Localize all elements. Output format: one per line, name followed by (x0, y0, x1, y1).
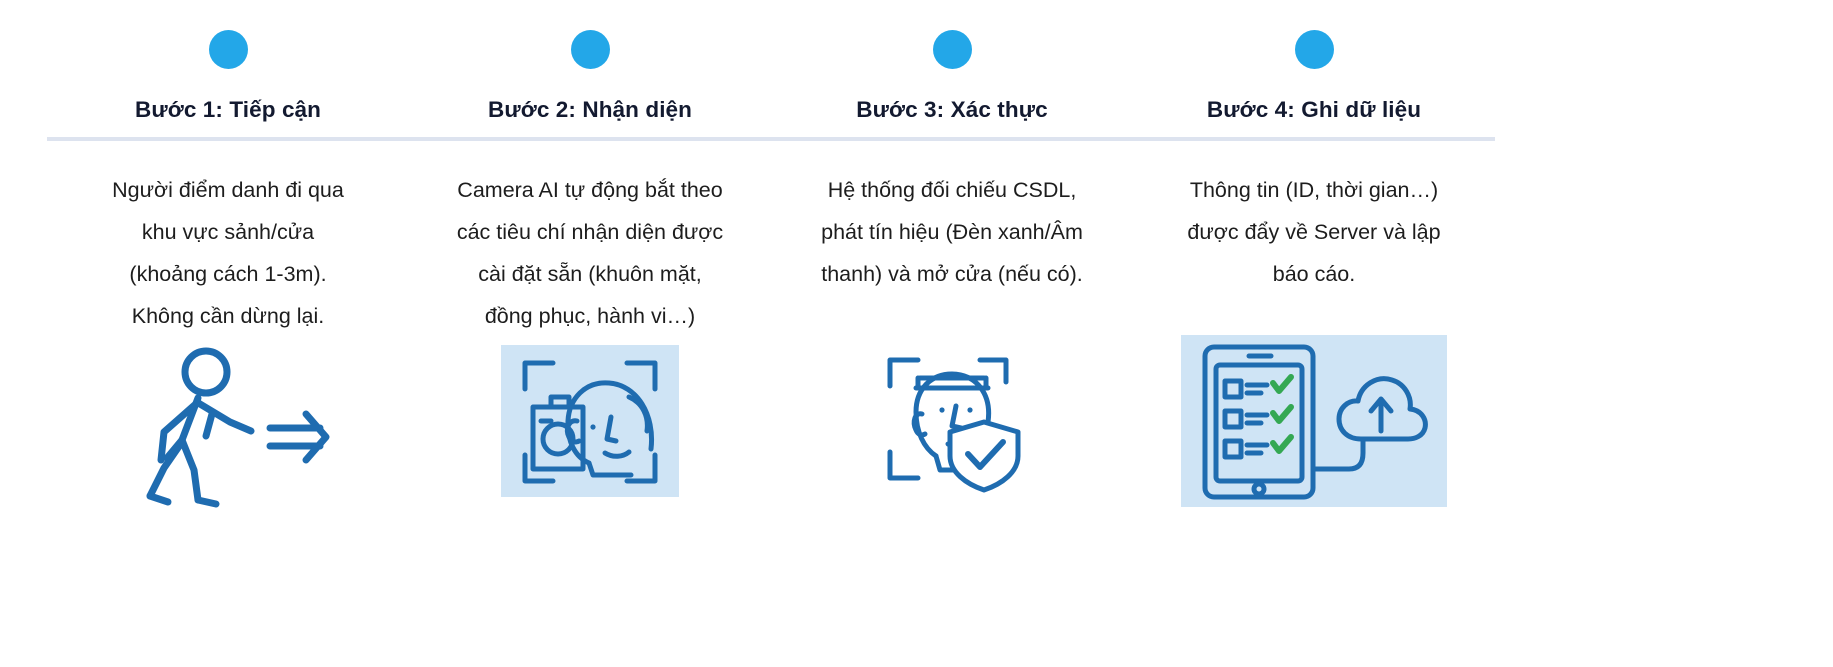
step-divider-2 (409, 137, 771, 141)
step-body-line: Người điểm danh đi qua (78, 169, 378, 211)
step-divider-3 (771, 137, 1133, 141)
step-column-1: Bước 1: Tiếp cận Người điểm danh đi qua … (47, 0, 409, 667)
step-icon-wrap-4 (1133, 335, 1495, 507)
step-divider-1 (47, 137, 409, 141)
step-icon-wrap-2 (409, 345, 771, 497)
step-divider-4 (1133, 137, 1495, 141)
step-title-4: Bước 4: Ghi dữ liệu (1207, 97, 1421, 123)
tablet-checklist-cloud-upload-icon (1181, 335, 1447, 507)
step-body-line: Hệ thống đối chiếu CSDL, (802, 169, 1102, 211)
step-icon-wrap-1 (47, 336, 409, 516)
step-column-4: Bước 4: Ghi dữ liệu Thông tin (ID, thời … (1133, 0, 1495, 667)
step-body-line: báo cáo. (1164, 253, 1464, 295)
walking-person-arrow-icon (120, 336, 336, 516)
step-body-line: các tiêu chí nhận diện được (440, 211, 740, 253)
step-body-4: Thông tin (ID, thời gian…) được đẩy về S… (1164, 169, 1464, 295)
infographic-board: Bước 1: Tiếp cận Người điểm danh đi qua … (0, 0, 1833, 667)
step-title-1: Bước 1: Tiếp cận (135, 97, 321, 123)
step-column-3: Bước 3: Xác thực Hệ thống đối chiếu CSDL… (771, 0, 1133, 667)
step-icon-wrap-3 (771, 348, 1133, 500)
step-body-line: phát tín hiệu (Đèn xanh/Âm (802, 211, 1102, 253)
step-dot-2 (571, 30, 610, 69)
steps-row: Bước 1: Tiếp cận Người điểm danh đi qua … (47, 0, 1587, 667)
step-body-1: Người điểm danh đi qua khu vực sảnh/cửa … (78, 169, 378, 337)
step-title-2: Bước 2: Nhận diện (488, 97, 692, 123)
step-body-line: thanh) và mở cửa (nếu có). (802, 253, 1102, 295)
step-body-line: (khoảng cách 1-3m). (78, 253, 378, 295)
step-body-line: Thông tin (ID, thời gian…) (1164, 169, 1464, 211)
face-scan-shield-check-icon (872, 348, 1032, 500)
step-dot-3 (933, 30, 972, 69)
step-body-3: Hệ thống đối chiếu CSDL, phát tín hiệu (… (802, 169, 1102, 295)
step-body-line: được đẩy về Server và lập (1164, 211, 1464, 253)
step-body-line: khu vực sảnh/cửa (78, 211, 378, 253)
step-body-line: Không cần dừng lại. (78, 295, 378, 337)
step-column-2: Bước 2: Nhận diện Camera AI tự động bắt … (409, 0, 771, 667)
step-body-2: Camera AI tự động bắt theo các tiêu chí … (440, 169, 740, 337)
camera-face-scan-icon (501, 345, 679, 497)
step-title-3: Bước 3: Xác thực (856, 97, 1048, 123)
step-body-line: Camera AI tự động bắt theo (440, 169, 740, 211)
step-dot-1 (209, 30, 248, 69)
step-body-line: đồng phục, hành vi…) (440, 295, 740, 337)
step-body-line: cài đặt sẵn (khuôn mặt, (440, 253, 740, 295)
step-dot-4 (1295, 30, 1334, 69)
